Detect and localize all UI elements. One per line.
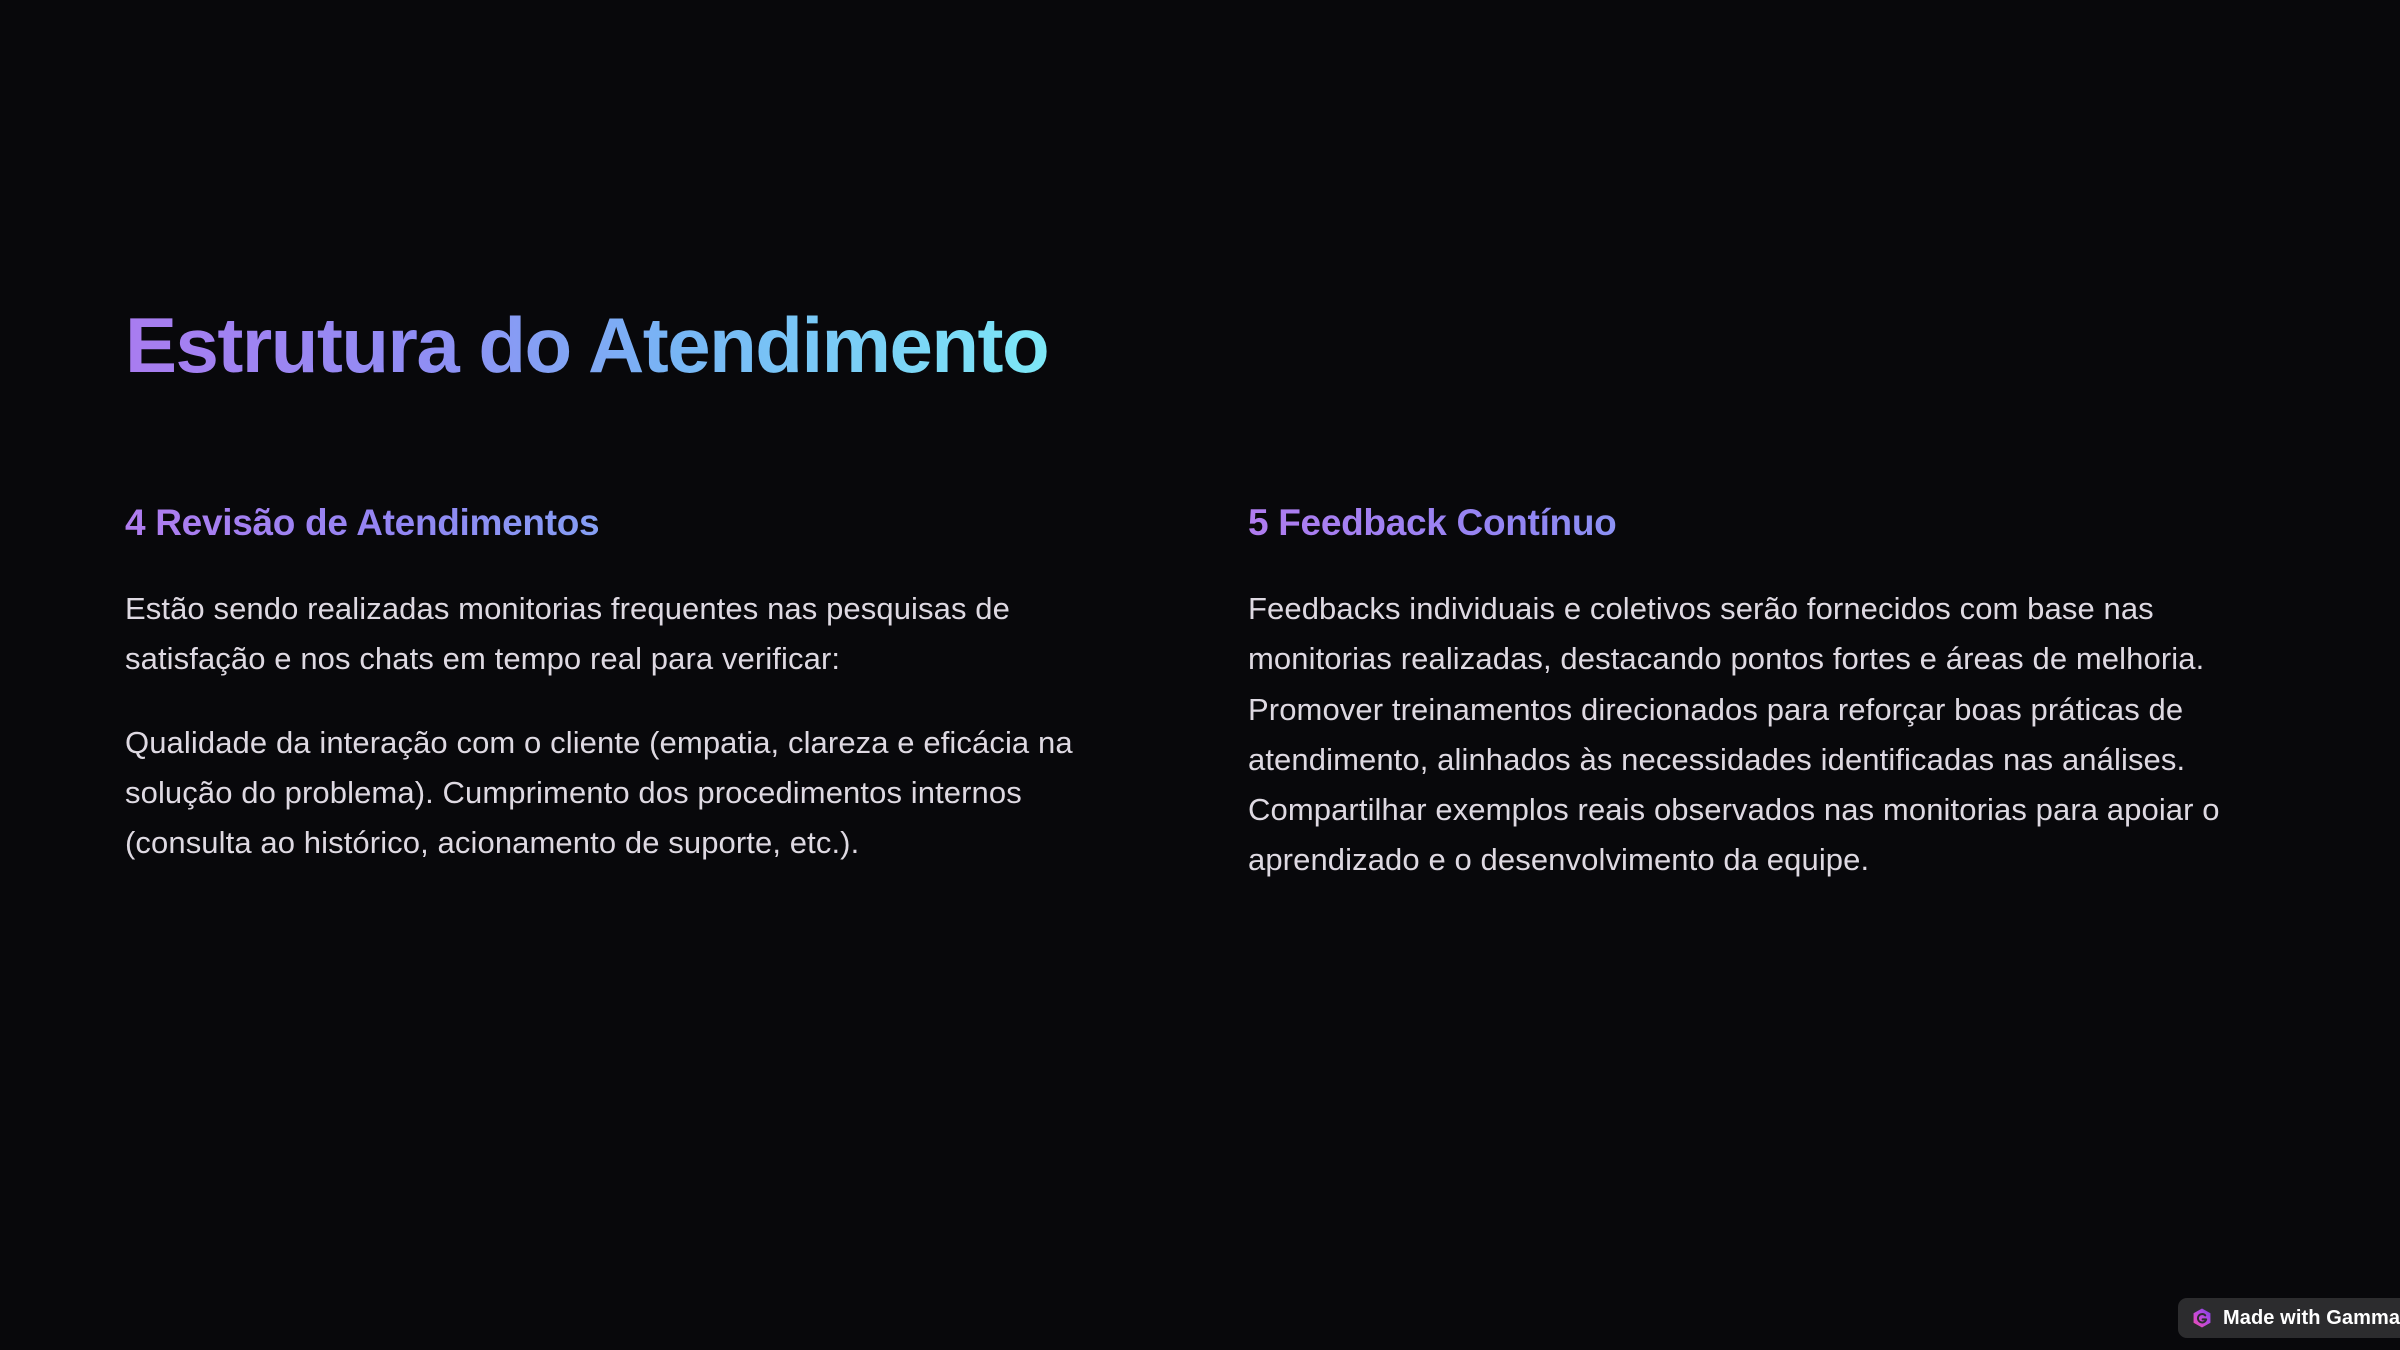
column-feedback-continuo: 5 Feedback Contínuo Feedbacks individuai… <box>1248 500 2261 886</box>
made-with-gamma-label: Made with Gamma <box>2223 1307 2400 1330</box>
column-heading-5: 5 Feedback Contínuo <box>1248 500 2261 546</box>
column-body-4: Estão sendo realizadas monitorias freque… <box>125 584 1138 868</box>
page-title: Estrutura do Atendimento <box>125 303 1048 387</box>
column-body-5: Feedbacks individuais e coletivos serão … <box>1248 584 2261 885</box>
content-columns: 4 Revisão de Atendimentos Estão sendo re… <box>125 500 2275 886</box>
column-revisao-de-atendimentos: 4 Revisão de Atendimentos Estão sendo re… <box>125 500 1138 886</box>
gamma-logo-icon <box>2191 1307 2213 1329</box>
made-with-gamma-badge[interactable]: Made with Gamma <box>2178 1298 2400 1338</box>
paragraph: Qualidade da interação com o cliente (em… <box>125 718 1138 869</box>
paragraph: Estão sendo realizadas monitorias freque… <box>125 584 1138 684</box>
slide-canvas: Estrutura do Atendimento 4 Revisão de At… <box>0 0 2400 1350</box>
column-heading-4: 4 Revisão de Atendimentos <box>125 500 1138 546</box>
paragraph: Feedbacks individuais e coletivos serão … <box>1248 584 2261 885</box>
